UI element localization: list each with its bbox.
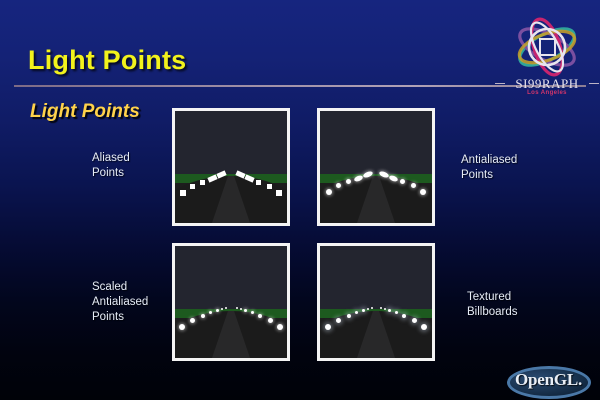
caption-aliased-points: Aliased Points: [92, 151, 130, 181]
opengl-wordmark: OpenGL.: [515, 370, 597, 390]
sky-band: [320, 111, 432, 174]
light-point: [209, 311, 212, 314]
light-point: [346, 179, 351, 184]
light-point: [402, 314, 406, 318]
light-point: [221, 308, 223, 310]
caption-antialiased-points: Antialiased Points: [461, 153, 517, 183]
light-point: [240, 308, 242, 310]
image-panel-scaled-antialiased: [172, 243, 290, 361]
sky-band: [175, 246, 287, 309]
runway-scene-billboards: [320, 246, 432, 358]
light-point: [244, 309, 247, 312]
siggraph-rings-icon: [497, 16, 597, 78]
light-point: [362, 309, 365, 312]
slide-canvas: Light Points Light Points SI99RAPH Los A…: [0, 0, 600, 400]
light-point: [336, 318, 341, 323]
light-point: [395, 311, 398, 314]
page-title: Light Points: [28, 45, 186, 76]
slide-subtitle: Light Points: [30, 101, 140, 123]
light-point: [411, 183, 416, 188]
light-point: [326, 189, 332, 195]
light-point: [236, 307, 238, 309]
light-point: [367, 308, 369, 310]
image-panel-textured-billboards: [317, 243, 435, 361]
light-point: [190, 318, 195, 323]
light-point: [225, 307, 227, 309]
light-point: [256, 180, 261, 185]
light-point: [384, 308, 386, 310]
light-point: [355, 311, 358, 314]
light-point: [420, 189, 426, 195]
light-point: [268, 318, 273, 323]
light-point: [347, 314, 351, 318]
siggraph-logo: SI99RAPH Los Angeles: [497, 16, 597, 104]
light-point: [400, 179, 405, 184]
light-point: [180, 190, 186, 196]
light-point: [371, 307, 373, 309]
image-panel-aliased: [172, 108, 290, 226]
runway-scene-aliased: [175, 111, 287, 223]
light-point: [325, 324, 331, 330]
light-point: [179, 324, 185, 330]
light-point: [380, 307, 382, 309]
light-point: [258, 314, 262, 318]
sky-band: [175, 111, 287, 174]
image-panel-antialiased: [317, 108, 435, 226]
light-point: [190, 184, 195, 189]
light-point: [201, 314, 205, 318]
light-point: [251, 311, 254, 314]
opengl-logo: OpenGL.: [505, 363, 597, 397]
runway-scene-antialiased: [320, 111, 432, 223]
sky-band: [320, 246, 432, 309]
light-point: [276, 190, 282, 196]
light-point: [421, 324, 427, 330]
caption-textured-billboards: Textured Billboards: [467, 290, 518, 320]
siggraph-location: Los Angeles: [497, 90, 597, 96]
light-point: [388, 309, 391, 312]
light-point: [277, 324, 283, 330]
light-point: [412, 318, 417, 323]
light-point: [336, 183, 341, 188]
caption-scaled-antialiased-points: Scaled Antialiased Points: [92, 280, 148, 325]
light-point: [267, 184, 272, 189]
light-point: [216, 309, 219, 312]
runway-scene-scaled: [175, 246, 287, 358]
light-point: [200, 180, 205, 185]
